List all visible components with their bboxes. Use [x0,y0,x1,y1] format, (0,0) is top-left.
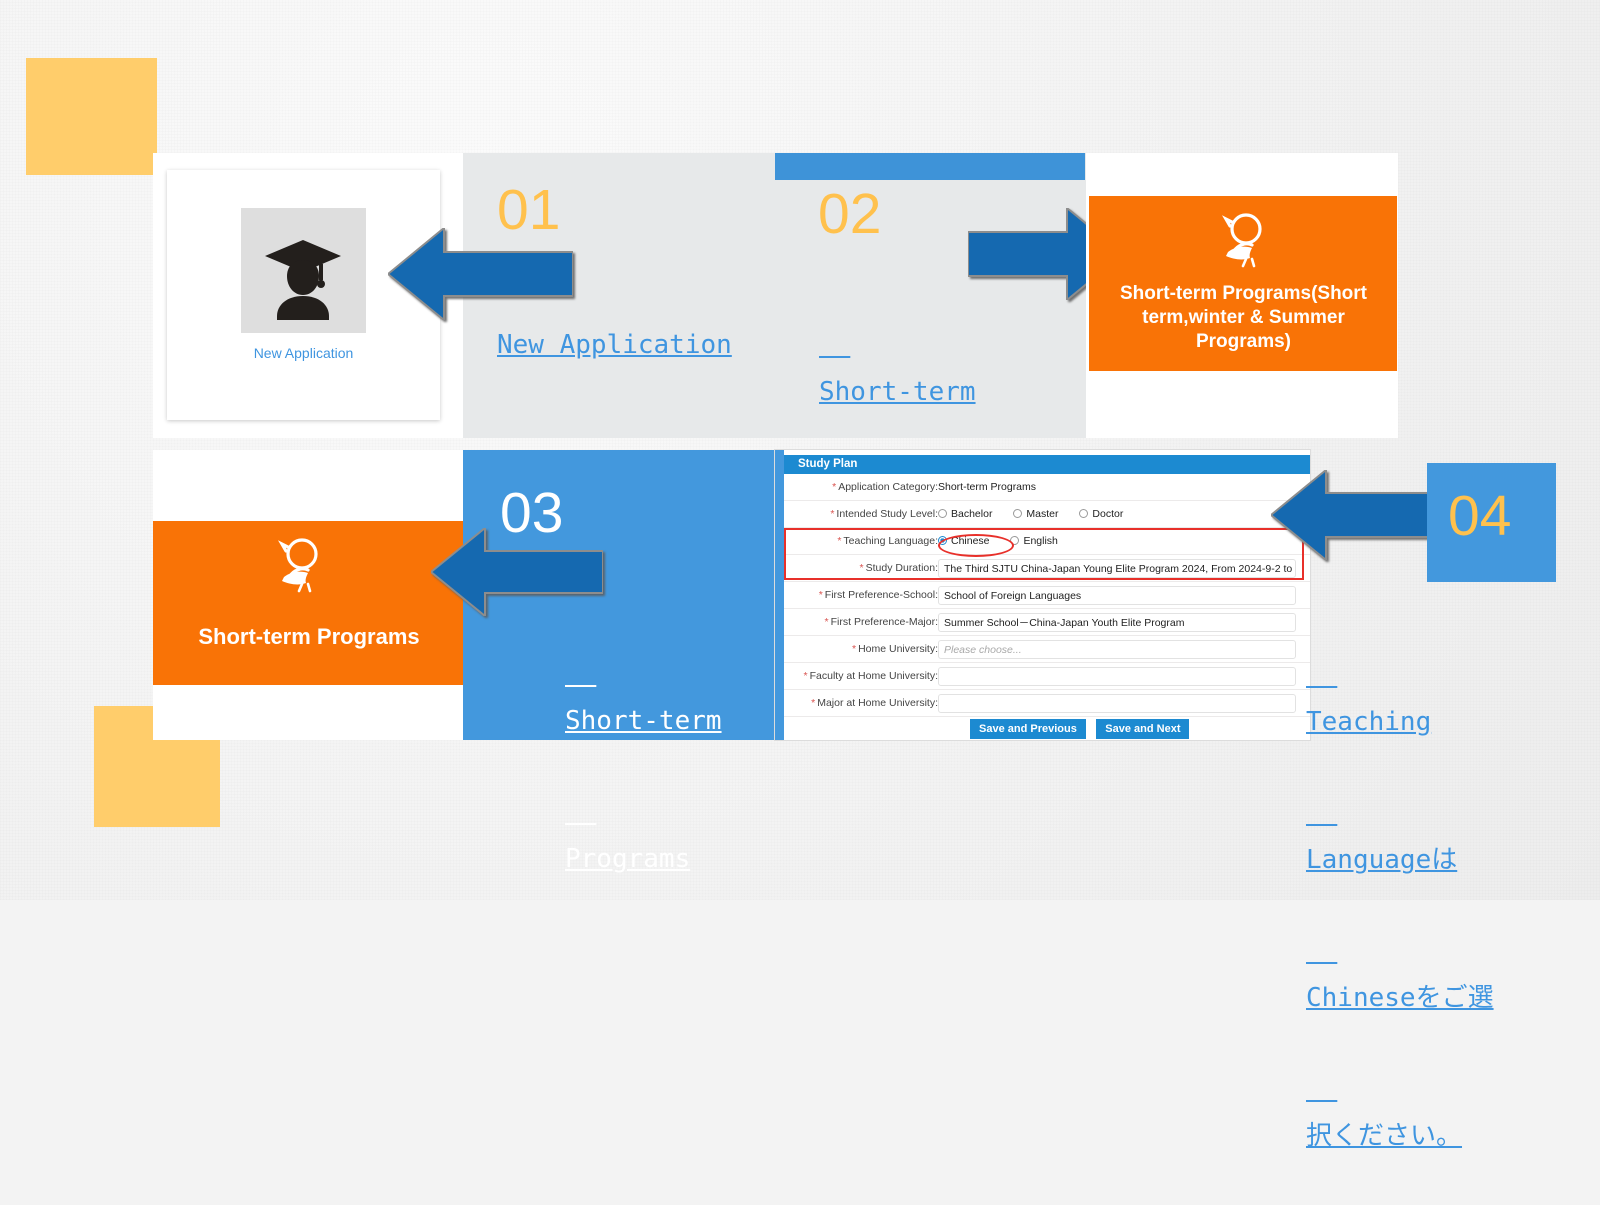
field-label-application-category: *Application Category: [784,474,938,501]
field-label-major-at-home-university: *Major at Home University: [784,690,938,717]
graduate-student-icon [241,208,366,333]
required-asterisk: * [825,616,829,628]
step-01-caption: New Application [497,322,732,368]
radio-dot-icon [1079,509,1088,518]
radio-chinese[interactable]: Chinese [938,535,990,547]
field-label-home-university: *Home University: [784,636,938,663]
field-value-home-university: Please choose... [938,636,1310,663]
required-asterisk: * [819,589,823,601]
first-preference-major-input[interactable]: Summer School－China-Japan Youth Elite Pr… [938,613,1296,632]
study-duration-input[interactable]: The Third SJTU China-Japan Young Elite P… [938,559,1296,578]
radio-english[interactable]: English [1010,535,1057,547]
save-and-previous-button[interactable]: Save and Previous [970,719,1086,739]
step-04-caption-line-3: Chineseをご選 [1306,975,1494,1021]
radio-master[interactable]: Master [1013,508,1058,520]
form-action-buttons: Save and Previous Save and Next [970,719,1195,739]
field-value-study-duration: The Third SJTU China-Japan Young Elite P… [938,555,1310,582]
step-02-number: 02 [818,186,881,243]
step-04-caption-line-2: Languageは [1306,837,1494,883]
table-row: *Faculty at Home University: [784,663,1310,690]
field-label-first-preference-school: *First Preference-School: [784,582,938,609]
required-asterisk: * [830,508,834,520]
step-03-caption-line-2: Programs [565,836,722,882]
radio-dot-icon [1013,509,1022,518]
table-row: *First Preference-Major: Summer School－C… [784,609,1310,636]
field-label-faculty-at-home-university: *Faculty at Home University: [784,663,938,690]
new-application-tile-label: New Application [167,345,440,361]
radio-bachelor[interactable]: Bachelor [938,508,992,520]
required-asterisk: * [852,643,856,655]
diploma-scroll-icon [1212,210,1274,272]
study-plan-header: Study Plan [784,455,1310,474]
radio-doctor[interactable]: Doctor [1079,508,1123,520]
step-02-top-bar [775,153,1085,180]
step-04-caption: Teaching Languageは Chineseをご選 択ください。 [1306,607,1494,1205]
field-label-study-duration: *Study Duration: [784,555,938,582]
faculty-at-home-university-input[interactable] [938,667,1296,686]
arrow-left-step-04 [1271,470,1431,560]
table-row: *Application Category: Short-term Progra… [784,474,1310,501]
step-03-caption-line-1: Short-term [565,698,722,744]
form-left-rail [775,450,784,740]
step-04-caption-line-4: 択ください。 [1306,1113,1494,1159]
radio-dot-icon [1010,536,1019,545]
step-04-number: 04 [1448,488,1511,545]
required-asterisk: * [811,697,815,709]
step-02-caption-line-1: Short-term [819,369,976,415]
field-value-first-preference-major: Summer School－China-Japan Youth Elite Pr… [938,609,1310,636]
required-asterisk: * [837,535,841,547]
step-04-caption-line-1: Teaching [1306,699,1494,745]
short-term-programs-summer-tile-label: Short-term Programs(Short term,winter & … [1096,282,1391,354]
required-asterisk: * [804,670,808,682]
radio-dot-icon [938,509,947,518]
field-label-first-preference-major: *First Preference-Major: [784,609,938,636]
field-value-faculty-at-home-university [938,663,1310,690]
field-value-major-at-home-university [938,690,1310,717]
table-row: *First Preference-School: School of Fore… [784,582,1310,609]
step-03-caption: Short-term Programs [565,606,722,928]
diploma-scroll-icon [268,535,330,597]
major-at-home-university-input[interactable] [938,694,1296,713]
table-row: *Study Duration: The Third SJTU China-Ja… [784,555,1310,582]
radio-dot-selected-icon [938,536,947,545]
field-label-teaching-language: *Teaching Language: [784,528,938,555]
short-term-programs-tile-label: Short-term Programs [160,625,458,649]
table-row: *Major at Home University: [784,690,1310,717]
field-value-teaching-language: Chinese English [938,528,1310,555]
table-row: *Teaching Language: Chinese English [784,528,1310,555]
required-asterisk: * [832,481,836,493]
arrow-left-step-01 [388,228,573,320]
study-plan-table: *Application Category: Short-term Progra… [784,474,1310,717]
required-asterisk: * [860,562,864,574]
save-and-next-button[interactable]: Save and Next [1096,719,1189,739]
table-row: *Home University: Please choose... [784,636,1310,663]
first-preference-school-input[interactable]: School of Foreign Languages [938,586,1296,605]
field-value-first-preference-school: School of Foreign Languages [938,582,1310,609]
home-university-select[interactable]: Please choose... [938,640,1296,659]
field-value-intended-study-level: Bachelor Master Doctor [938,501,1310,528]
field-label-intended-study-level: *Intended Study Level: [784,501,938,528]
arrow-left-step-03 [431,528,603,616]
study-plan-form-screenshot: Study Plan *Application Category: Short-… [775,450,1310,740]
table-row: *Intended Study Level: Bachelor Master D… [784,501,1310,528]
field-value-application-category: Short-term Programs [938,474,1310,501]
decorative-gold-square-top [26,58,157,175]
